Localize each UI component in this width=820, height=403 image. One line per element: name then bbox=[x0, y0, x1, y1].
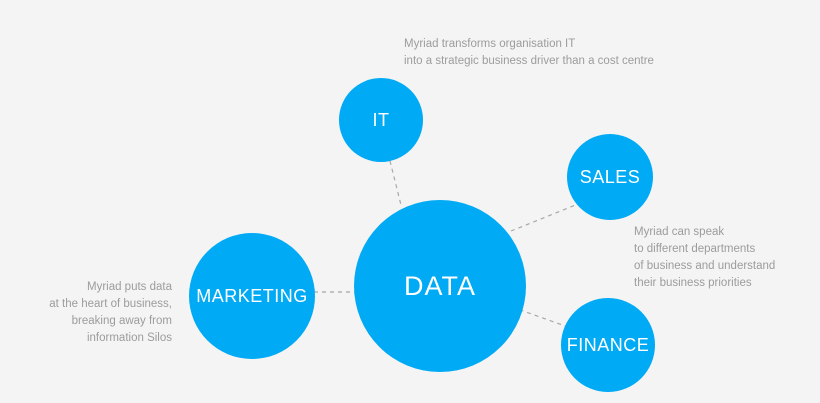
bubble-data-label: DATA bbox=[404, 273, 476, 300]
bubble-it-label: IT bbox=[373, 111, 390, 129]
bubble-sales-label: SALES bbox=[580, 168, 641, 186]
bubble-finance[interactable]: FINANCE bbox=[561, 298, 655, 392]
bubble-sales[interactable]: SALES bbox=[567, 134, 653, 220]
bubble-finance-label: FINANCE bbox=[567, 336, 650, 354]
bubble-it[interactable]: IT bbox=[339, 78, 423, 162]
caption-sales: Myriad can speak to different department… bbox=[634, 224, 775, 292]
bubble-diagram: IT SALES MARKETING FINANCE DATA Myriad t… bbox=[0, 0, 820, 403]
bubble-data-hub[interactable]: DATA bbox=[354, 200, 526, 372]
caption-it: Myriad transforms organisation IT into a… bbox=[404, 36, 654, 70]
bubble-marketing-label: MARKETING bbox=[196, 287, 308, 305]
caption-marketing: Myriad puts data at the heart of busines… bbox=[0, 279, 172, 347]
connector-data-sales bbox=[511, 204, 578, 231]
bubble-marketing[interactable]: MARKETING bbox=[189, 233, 315, 359]
connector-data-it bbox=[390, 161, 401, 205]
